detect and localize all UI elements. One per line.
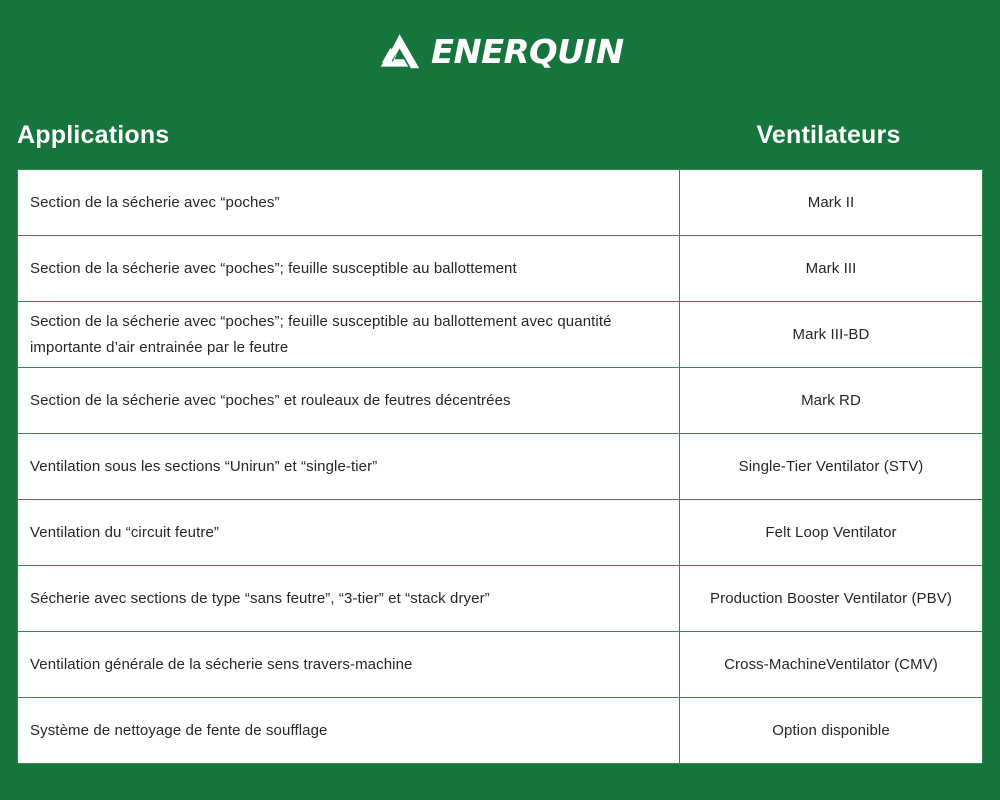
cell-application: Section de la sécherie avec “poches” xyxy=(18,170,680,235)
cell-ventilator: Mark RD xyxy=(680,368,982,433)
cell-ventilator: Mark II xyxy=(680,170,982,235)
logo-bar: ENERQUIN xyxy=(0,0,1000,88)
ventilator-text: Mark III xyxy=(806,257,857,281)
cell-ventilator: Option disponible xyxy=(680,698,982,763)
cell-application: Section de la sécherie avec “poches” et … xyxy=(18,368,680,433)
ventilator-text: Option disponible xyxy=(772,719,890,743)
brand-wordmark: ENERQUIN xyxy=(431,35,624,68)
cell-ventilator: Production Booster Ventilator (PBV) xyxy=(680,566,982,631)
ventilator-text: Production Booster Ventilator (PBV) xyxy=(710,587,952,611)
cell-ventilator: Single-Tier Ventilator (STV) xyxy=(680,434,982,499)
page-root: ENERQUIN Applications Ventilateurs Secti… xyxy=(0,0,1000,800)
table-row: Système de nettoyage de fente de souffla… xyxy=(18,698,982,763)
table-row: Ventilation sous les sections “Unirun” e… xyxy=(18,434,982,500)
application-text: Ventilation du “circuit feutre” xyxy=(30,520,219,546)
cell-application: Ventilation du “circuit feutre” xyxy=(18,500,680,565)
ventilator-text: Mark RD xyxy=(801,389,861,413)
ventilator-text: Cross-MachineVentilator (CMV) xyxy=(724,653,938,677)
application-text: Section de la sécherie avec “poches” xyxy=(30,190,280,216)
application-text: Ventilation générale de la sécherie sens… xyxy=(30,652,412,678)
cell-application: Sécherie avec sections de type “sans feu… xyxy=(18,566,680,631)
cell-ventilator: Mark III-BD xyxy=(680,302,982,367)
application-text: Ventilation sous les sections “Unirun” e… xyxy=(30,454,377,480)
application-text: Section de la sécherie avec “poches”; fe… xyxy=(30,256,517,282)
heading-applications: Applications xyxy=(17,121,681,150)
cell-application: Section de la sécherie avec “poches”; fe… xyxy=(18,302,680,367)
table-row: Section de la sécherie avec “poches”; fe… xyxy=(18,236,982,302)
application-text: Section de la sécherie avec “poches” et … xyxy=(30,388,511,414)
cell-application: Ventilation générale de la sécherie sens… xyxy=(18,632,680,697)
brand-logo: ENERQUIN xyxy=(380,32,620,70)
table-row: Section de la sécherie avec “poches” et … xyxy=(18,368,982,434)
table-row: Ventilation générale de la sécherie sens… xyxy=(18,632,982,698)
cell-application: Section de la sécherie avec “poches”; fe… xyxy=(18,236,680,301)
cell-ventilator: Cross-MachineVentilator (CMV) xyxy=(680,632,982,697)
table-row: Sécherie avec sections de type “sans feu… xyxy=(18,566,982,632)
cell-application: Système de nettoyage de fente de souffla… xyxy=(18,698,680,763)
table-row: Section de la sécherie avec “poches” Mar… xyxy=(18,170,982,236)
application-text: Système de nettoyage de fente de souffla… xyxy=(30,718,327,744)
heading-ventilateurs: Ventilateurs xyxy=(681,121,982,150)
ventilator-text: Mark III-BD xyxy=(793,323,870,347)
cell-application: Ventilation sous les sections “Unirun” e… xyxy=(18,434,680,499)
cell-ventilator: Mark III xyxy=(680,236,982,301)
cell-ventilator: Felt Loop Ventilator xyxy=(680,500,982,565)
triangle-a-logo-icon xyxy=(380,32,420,70)
ventilator-text: Felt Loop Ventilator xyxy=(765,521,896,545)
application-text: Section de la sécherie avec “poches”; fe… xyxy=(30,309,665,361)
ventilator-text: Single-Tier Ventilator (STV) xyxy=(739,455,924,479)
applications-table: Section de la sécherie avec “poches” Mar… xyxy=(17,169,983,764)
column-headings: Applications Ventilateurs xyxy=(0,88,1000,150)
application-text: Sécherie avec sections de type “sans feu… xyxy=(30,586,490,612)
table-row: Ventilation du “circuit feutre” Felt Loo… xyxy=(18,500,982,566)
ventilator-text: Mark II xyxy=(808,191,855,215)
table-row: Section de la sécherie avec “poches”; fe… xyxy=(18,302,982,368)
